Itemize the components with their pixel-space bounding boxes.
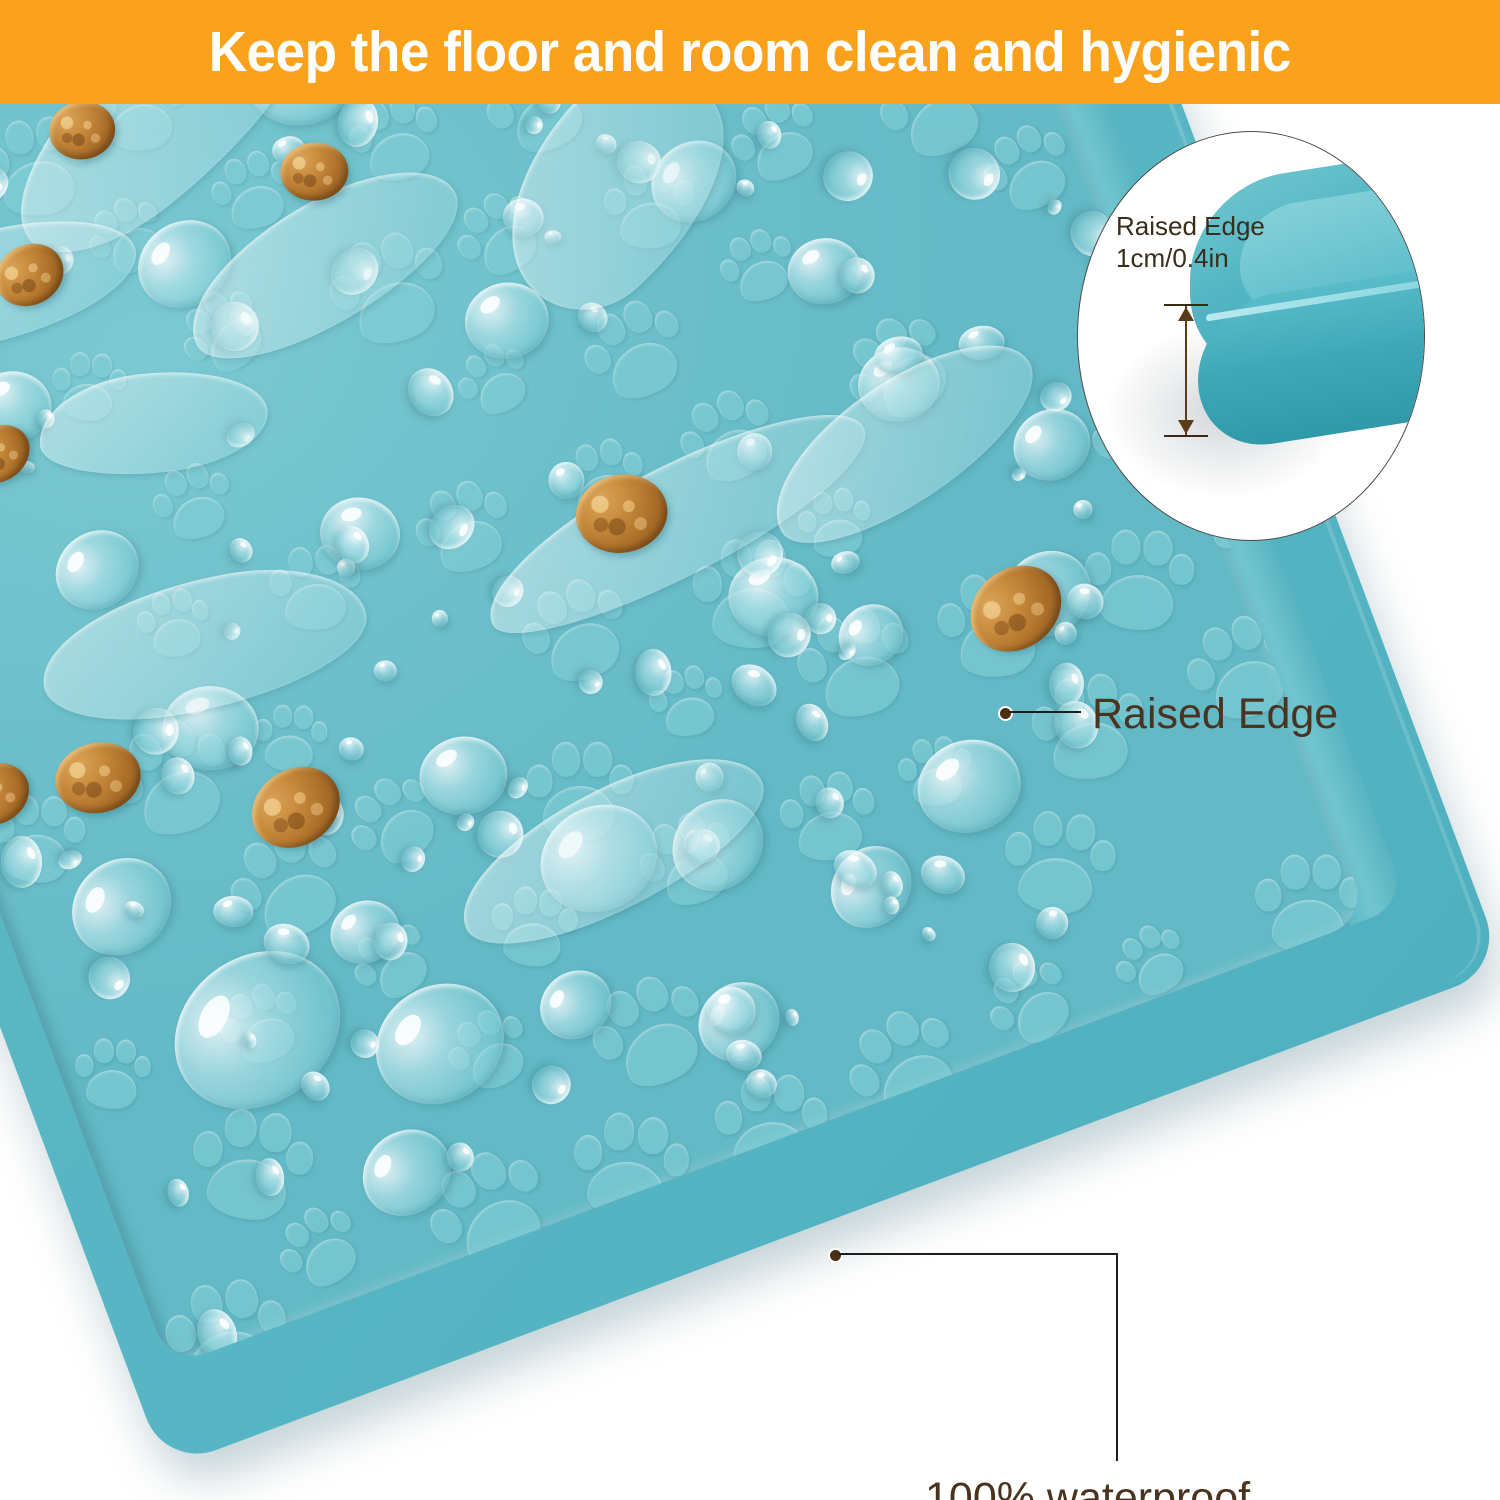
kibble-piece bbox=[953, 548, 1078, 669]
product-photo-stage: Raised Edge 1cm/0.4in Raised Edge 100% w… bbox=[0, 104, 1500, 1500]
leader-line-raised-edge bbox=[1009, 711, 1081, 713]
headline-text: Keep the floor and room clean and hygien… bbox=[209, 19, 1291, 85]
callout-label-raised-edge: Raised Edge bbox=[1092, 690, 1338, 739]
dot-marker-icon-waterproof bbox=[828, 1248, 843, 1263]
kibble-piece bbox=[48, 734, 147, 821]
inset-line-1: Raised Edge bbox=[1116, 210, 1265, 242]
headline-banner: Keep the floor and room clean and hygien… bbox=[0, 0, 1500, 104]
leader-line-waterproof-vertical bbox=[1116, 1253, 1118, 1461]
kibble-piece bbox=[569, 467, 674, 560]
kibble-piece bbox=[0, 413, 41, 495]
inset-line-2: 1cm/0.4in bbox=[1116, 242, 1265, 274]
kibble-piece bbox=[45, 104, 119, 164]
dot-marker-icon-raised-edge bbox=[998, 706, 1013, 721]
kibble-piece bbox=[0, 751, 40, 837]
raised-edge-inset-circle: Raised Edge 1cm/0.4in bbox=[1077, 131, 1425, 541]
kibble-piece bbox=[278, 140, 350, 203]
kibble-piece bbox=[0, 232, 75, 318]
inset-measurement-text: Raised Edge 1cm/0.4in bbox=[1116, 210, 1265, 274]
dimension-arrow-icon bbox=[1164, 304, 1208, 437]
callout-label-waterproof: 100% waterproof bbox=[925, 1474, 1250, 1500]
leader-line-waterproof-horizontal bbox=[839, 1253, 1117, 1255]
kibble-piece bbox=[237, 751, 355, 865]
